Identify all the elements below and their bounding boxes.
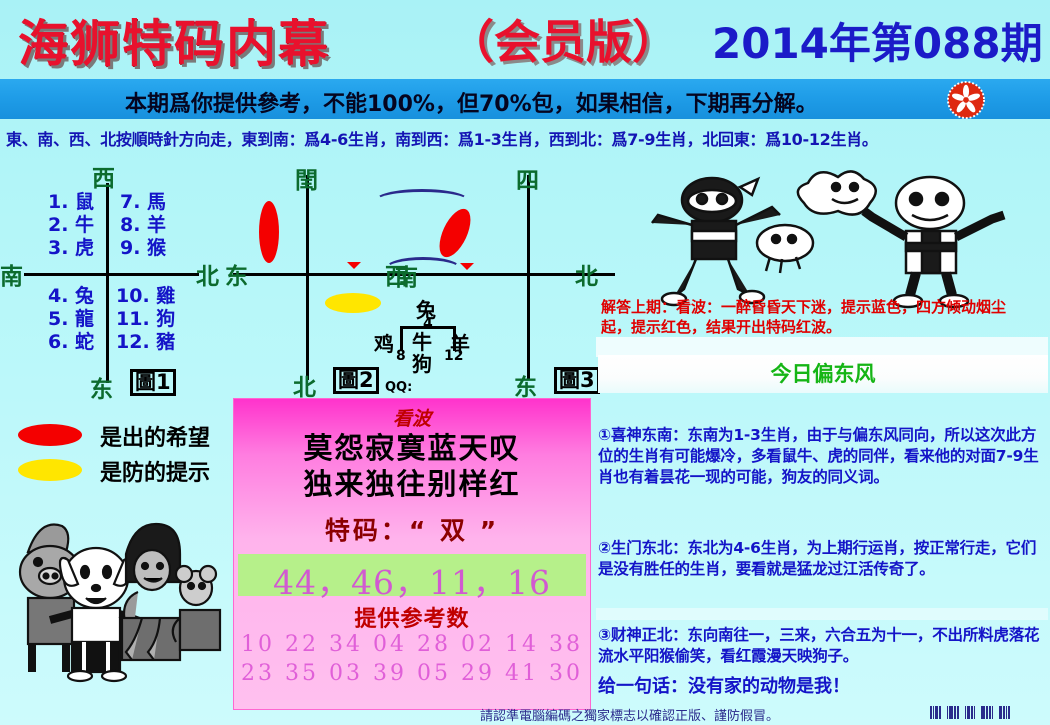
figure-3-label: 圖3	[554, 367, 600, 394]
reference-label: 提供参考数	[234, 601, 590, 633]
direction-bottom: 北	[293, 368, 316, 402]
paragraph-1: ①喜神东南：东南为1-3生肖，由于与偏东风同向，所以这次此方位的生肖有可能爆冷，…	[598, 425, 1048, 488]
zodiac-quadrant-br: 10. 雞 11. 狗 12. 豬	[116, 285, 175, 354]
reference-row-1: 10 22 34 04 28 02 14 38	[234, 632, 590, 657]
wind-label: 今日偏东风	[598, 358, 1048, 388]
yellow-oval-icon	[18, 459, 82, 481]
qq-label: QQ:	[385, 380, 412, 395]
axis-vertical	[306, 175, 309, 380]
poem-line-2: 独来独往别样红	[234, 461, 590, 503]
direction-right: 北	[196, 257, 219, 291]
chart3-direction-left: 南	[395, 258, 418, 292]
answer-previous-line-1: 解答上期：看波：一醉昏昏天下迷，提示蓝色，四方倾动烟尘	[601, 297, 1046, 317]
cartoon-top-right	[640, 165, 1040, 310]
chart-figure-1: 西 南 北 东 圖1 1. 鼠 2. 牛 3. 虎 7. 馬 8. 羊 9. 猴…	[0, 165, 225, 395]
direction-top: 閏	[295, 161, 318, 195]
scan-smudge-2	[596, 608, 1048, 620]
banner-text: 本期爲你提供參考，不能100%，但70%包，如果相信，下期再分解。	[125, 86, 818, 118]
axis-vertical	[527, 175, 530, 380]
figure-1-label: 圖1	[130, 369, 176, 396]
direction-top: 西	[92, 159, 115, 193]
red-oval-icon	[18, 424, 82, 446]
red-triangle-marker-1	[347, 262, 361, 269]
poster-root: 海狮特码内幕 （会员版） 2014年第088期 本期爲你提供參考，不能100%，…	[0, 0, 1050, 725]
barcode-icon	[930, 706, 1025, 719]
hongkong-bauhinia-icon	[947, 81, 985, 119]
figure-2-label: 圖2	[333, 367, 379, 394]
edition-label: （会员版）	[448, 6, 678, 72]
answer-previous: 解答上期：看波：一醉昏昏天下迷，提示蓝色，四方倾动烟尘 起，提示红色，结果开出特…	[601, 297, 1046, 337]
main-numbers: 44，46，11，16	[238, 556, 586, 604]
direction-top: 四	[516, 161, 539, 195]
yellow-oval-marker	[325, 293, 381, 313]
pink-panel: 看波 莫怨寂寞蓝天叹 独来独往别样红 特码：“ 双 ” 44，46，11，16 …	[233, 398, 591, 710]
scan-smudge-1	[596, 337, 1048, 357]
cluster-left-number: 8	[396, 348, 406, 364]
direction-left: 东	[225, 257, 248, 291]
reference-row-2: 23 35 03 39 05 29 41 30	[234, 661, 590, 686]
paragraph-4: 给一句话：没有家的动物是我！	[598, 672, 1048, 698]
issue-label: 2014年第088期	[712, 10, 1043, 71]
axis-horizontal	[24, 273, 199, 276]
page-title: 海狮特码内幕	[18, 4, 330, 76]
direction-right: 北	[575, 257, 598, 291]
direction-left: 南	[0, 257, 23, 291]
cluster-right-number: 12	[444, 348, 463, 364]
cluster-bottom-animal: 狗	[412, 348, 432, 377]
red-oval-marker-1	[259, 201, 279, 263]
cluster-left-animal: 鸡	[374, 328, 394, 357]
axis-vertical	[106, 183, 109, 383]
paragraph-2: ②生门东北：东北为4-6生肖，为上期行运肖，按正常行走，它们是没有胜任的生肖，要…	[598, 538, 1048, 580]
direction-bottom: 东	[514, 368, 537, 402]
legend-label-yellow: 是防的提示	[100, 455, 210, 487]
header: 海狮特码内幕 （会员版） 2014年第088期	[0, 0, 1050, 72]
paragraph-3: ③财神正北：东向南往一，三来，六合五为十一，不出所料虎落花流水平阳猴偷笑，看红霞…	[598, 625, 1048, 667]
zodiac-quadrant-tr: 7. 馬 8. 羊 9. 猴	[120, 191, 166, 260]
zodiac-quadrant-bl: 4. 兔 5. 龍 6. 蛇	[48, 285, 94, 354]
rule-line: 東、南、西、北按順時針方向走，東到南：爲4-6生肖，南到西：爲1-3生肖，西到北…	[6, 126, 1044, 150]
direction-bottom: 东	[90, 370, 113, 404]
cartoon-bottom-left	[10, 510, 225, 690]
legend-label-red: 是出的希望	[100, 420, 210, 452]
tema-label: 特码：“ 双 ”	[234, 511, 590, 547]
arc-top	[375, 189, 469, 212]
zodiac-quadrant-tl: 1. 鼠 2. 牛 3. 虎	[48, 191, 94, 260]
answer-previous-line-2: 起，提示红色，结果开出特码红波。	[601, 317, 1046, 337]
